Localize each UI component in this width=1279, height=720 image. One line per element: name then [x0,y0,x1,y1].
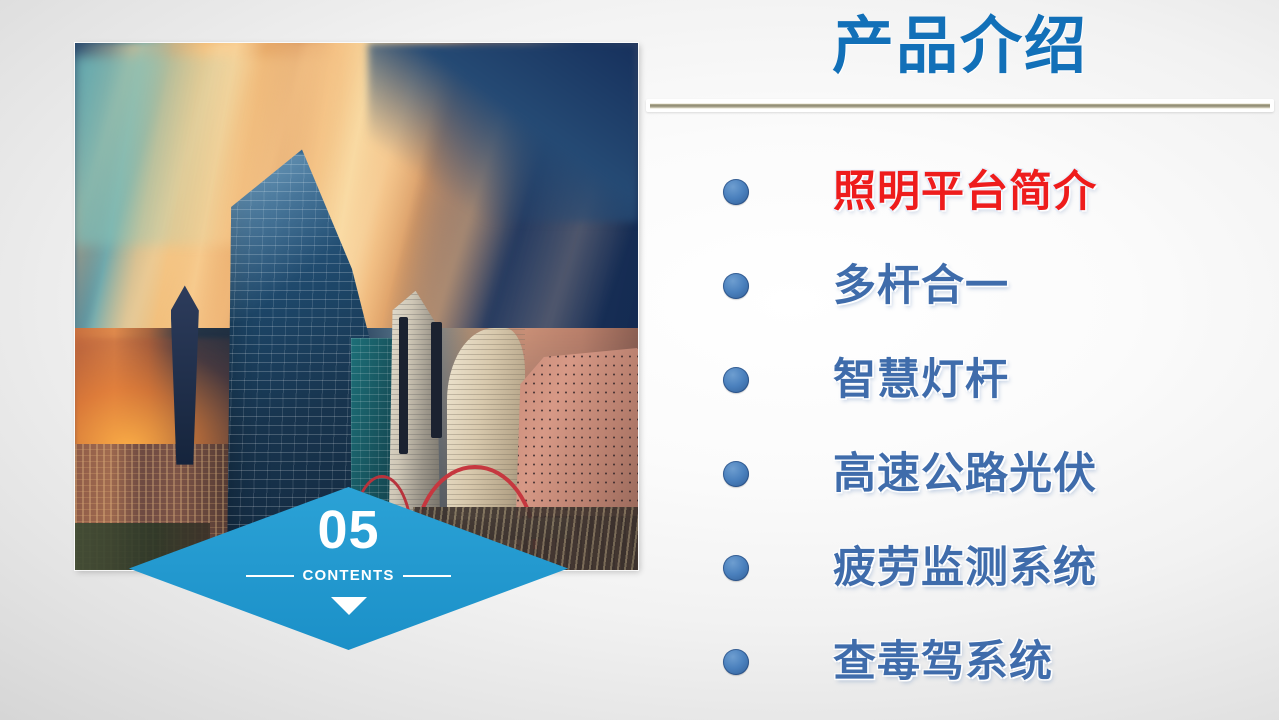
bullet-dot-icon [723,461,749,487]
tower-accent-stripe [399,317,408,454]
bullet-dot-icon [723,367,749,393]
list-item[interactable]: 疲劳监测系统 [646,522,1276,614]
bullet-dot-icon [723,555,749,581]
down-caret-icon [331,597,367,615]
rule-right [403,575,451,577]
divider-inner-bar [650,103,1270,109]
list-item-label: 照明平台简介 [833,171,1097,214]
section-number: 05 [317,503,379,557]
contents-label-row: CONTENTS [246,567,450,584]
list-item[interactable]: 高速公路光伏 [646,428,1276,520]
page-title: 产品介绍 [648,8,1272,86]
list-item[interactable]: 查毒驾系统 [646,616,1276,708]
list-item-label: 查毒驾系统 [833,641,1053,684]
ornamental-divider [646,99,1274,112]
list-item[interactable]: 照明平台简介 [646,146,1276,238]
topic-list: 照明平台简介 多杆合一 智慧灯杆 高速公路光伏 疲劳监测系统 查毒驾系统 [646,132,1276,712]
presentation-slide: 05 CONTENTS 产品介绍 照明平台简介 多杆合一 智慧灯杆 高速公路光伏 [0,0,1279,720]
list-item[interactable]: 智慧灯杆 [646,334,1276,426]
list-item-label: 智慧灯杆 [833,359,1009,402]
bullet-dot-icon [723,649,749,675]
contents-badge[interactable]: 05 CONTENTS [129,487,568,650]
bullet-dot-icon [723,273,749,299]
contents-label: CONTENTS [302,567,394,584]
list-item-label: 多杆合一 [833,265,1009,308]
tower-accent-stripe-2 [431,322,441,438]
rule-left [246,575,294,577]
list-item-label: 高速公路光伏 [833,453,1097,496]
bullet-dot-icon [723,179,749,205]
sky-dark-wedge [368,43,638,222]
list-item-label: 疲劳监测系统 [833,547,1097,590]
list-item[interactable]: 多杆合一 [646,240,1276,332]
